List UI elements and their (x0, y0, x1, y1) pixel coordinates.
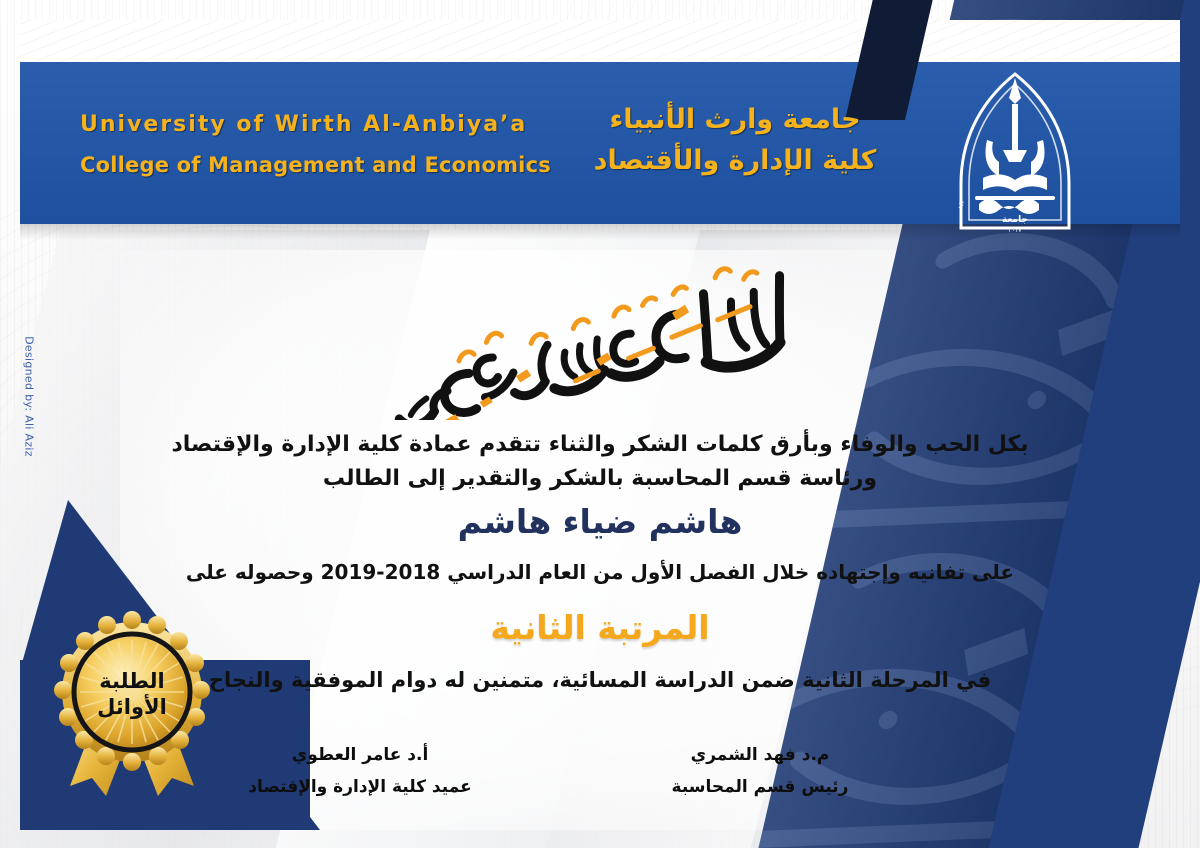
certificate-title-text: شهادة شكر وتقدير (380, 265, 840, 420)
header-arabic-block: جامعة وارث الأنبياء كلية الإدارة والأقتص… (520, 104, 950, 176)
svg-text:جامعة: جامعة (1002, 215, 1028, 225)
university-name-en: University of Wirth Al-Anbiya’a (80, 112, 540, 137)
award-rosette-icon: الطلبة الأوائل (42, 610, 222, 815)
university-name-ar: جامعة وارث الأنبياء (520, 104, 950, 135)
signature-block-dean: أ.د عامر العطوي عميد كلية الإدارة والإقت… (200, 745, 520, 797)
signature-name: م.د فهد الشمري (600, 745, 920, 765)
student-name: هاشم ضياء هاشم (0, 502, 1200, 541)
seal-line-1: الطلبة (99, 669, 164, 693)
college-name-ar: كلية الإدارة والأقتصاد (520, 145, 950, 176)
signature-name: أ.د عامر العطوي (200, 745, 520, 765)
academic-year-line: على تفانيه وإجتهاده خلال الفصل الأول من … (0, 560, 1200, 584)
seal-line-2: الأوائل (97, 693, 167, 719)
certificate-title: شهادة شكر وتقدير (380, 265, 840, 420)
university-logo: UNIVERSITY OF WARITH AL-ANBIYA'A جامعة ٢… (945, 62, 1085, 237)
svg-text:UNIVERSITY OF WARITH AL-ANBIYA: UNIVERSITY OF WARITH AL-ANBIYA'A (945, 62, 966, 209)
certificate-canvas: University of Wirth Al-Anbiya’a College … (0, 0, 1200, 848)
top-students-seal: الطلبة الأوائل (42, 610, 222, 815)
header-top-stripe-area (20, 20, 1180, 62)
designer-credit: Designed by: Ali Aziz (23, 332, 36, 462)
signature-role: عميد كلية الإدارة والإقتصاد (200, 777, 520, 797)
college-name-en: College of Management and Economics (80, 153, 540, 177)
signature-block-head-of-department: م.د فهد الشمري رئيس قسم المحاسبة (600, 745, 920, 797)
university-crest-icon: UNIVERSITY OF WARITH AL-ANBIYA'A جامعة ٢… (945, 62, 1085, 237)
body-line-2: ورئاسة قسم المحاسبة بالشكر والتقدير إلى … (0, 466, 1200, 491)
signature-role: رئيس قسم المحاسبة (600, 777, 920, 797)
svg-text:٢٠١٧: ٢٠١٧ (1009, 227, 1023, 234)
body-line-1: بكل الحب والوفاء وبأرق كلمات الشكر والثن… (0, 432, 1200, 457)
header-english-block: University of Wirth Al-Anbiya’a College … (80, 112, 540, 177)
